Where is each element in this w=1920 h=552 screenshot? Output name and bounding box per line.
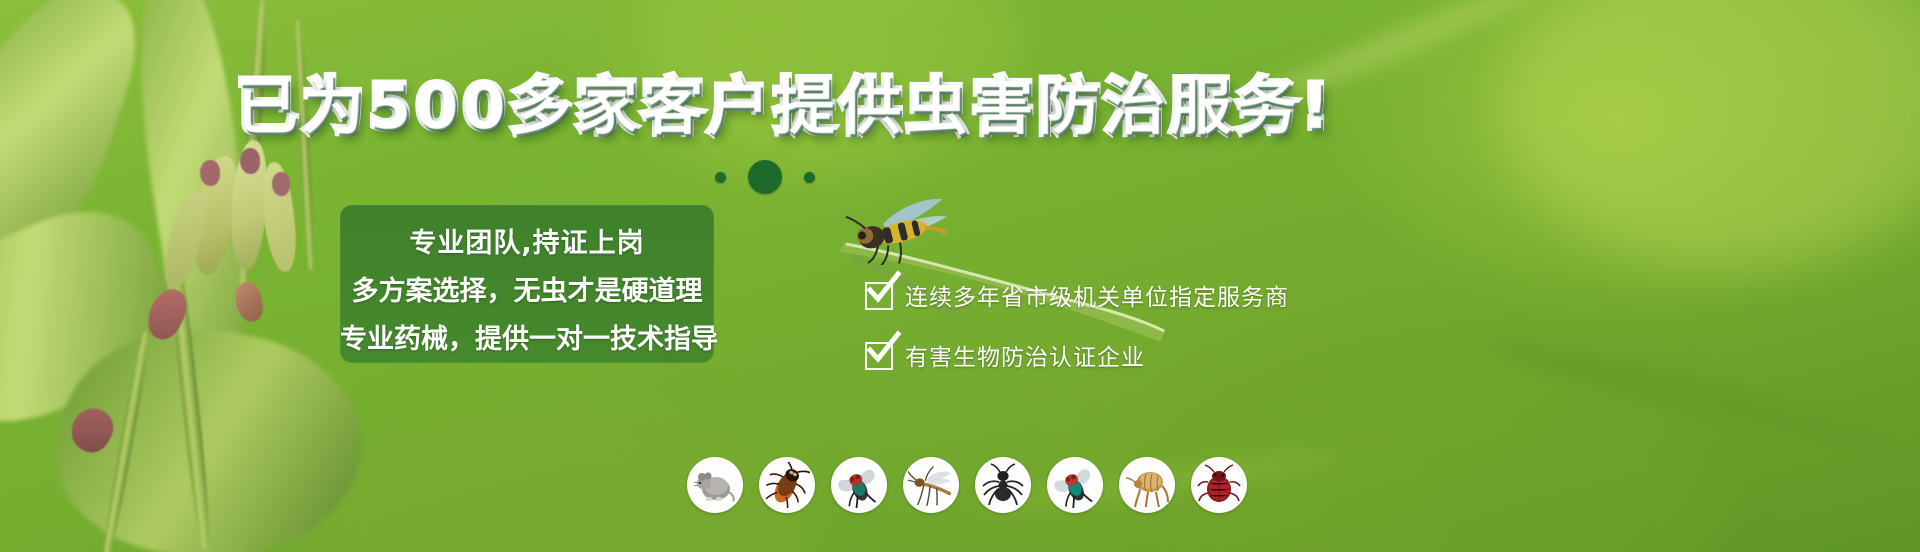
selling-point-1: 专业团队,持证上岗 [340, 221, 714, 260]
flea-icon[interactable] [1119, 457, 1175, 513]
dot-small-right [804, 172, 815, 183]
credentials-list: 连续多年省市级机关单位指定服务商 有害生物防治认证企业 [865, 272, 1485, 392]
hoverfly-icon [845, 195, 965, 265]
mosquito-icon[interactable] [903, 457, 959, 513]
page-title: 已为500多家客户提供虫害防治服务! [0, 76, 1570, 138]
mouse-icon[interactable] [687, 457, 743, 513]
credential-label: 有害生物防治认证企业 [905, 338, 1145, 372]
pest-icons-strip [687, 457, 1247, 513]
dot-small-left [715, 172, 726, 183]
blowfly-icon[interactable] [1047, 457, 1103, 513]
checkbox-checked-icon [865, 282, 891, 308]
selling-point-2: 多方案选择，无虫才是硬道理 [340, 269, 714, 308]
checkbox-checked-icon [865, 342, 891, 368]
promo-banner: 已为500多家客户提供虫害防治服务! 专业团队,持证上岗 多方案选择，无虫才是硬… [0, 0, 1920, 552]
selling-points-panel: 专业团队,持证上岗 多方案选择，无虫才是硬道理 专业药械，提供一对一技术指导 [340, 205, 714, 363]
housefly-icon[interactable] [831, 457, 887, 513]
list-item: 有害生物防治认证企业 [865, 332, 1485, 378]
dot-large-center [748, 160, 782, 194]
decor-dots [715, 160, 815, 194]
selling-point-3: 专业药械，提供一对一技术指导 [340, 317, 714, 356]
bedbug-icon[interactable] [1191, 457, 1247, 513]
credential-label: 连续多年省市级机关单位指定服务商 [905, 278, 1289, 312]
cockroach-icon[interactable] [759, 457, 815, 513]
headline-text: 已为500多家客户提供虫害防治服务! [236, 70, 1334, 143]
list-item: 连续多年省市级机关单位指定服务商 [865, 272, 1485, 318]
ant-icon[interactable] [975, 457, 1031, 513]
